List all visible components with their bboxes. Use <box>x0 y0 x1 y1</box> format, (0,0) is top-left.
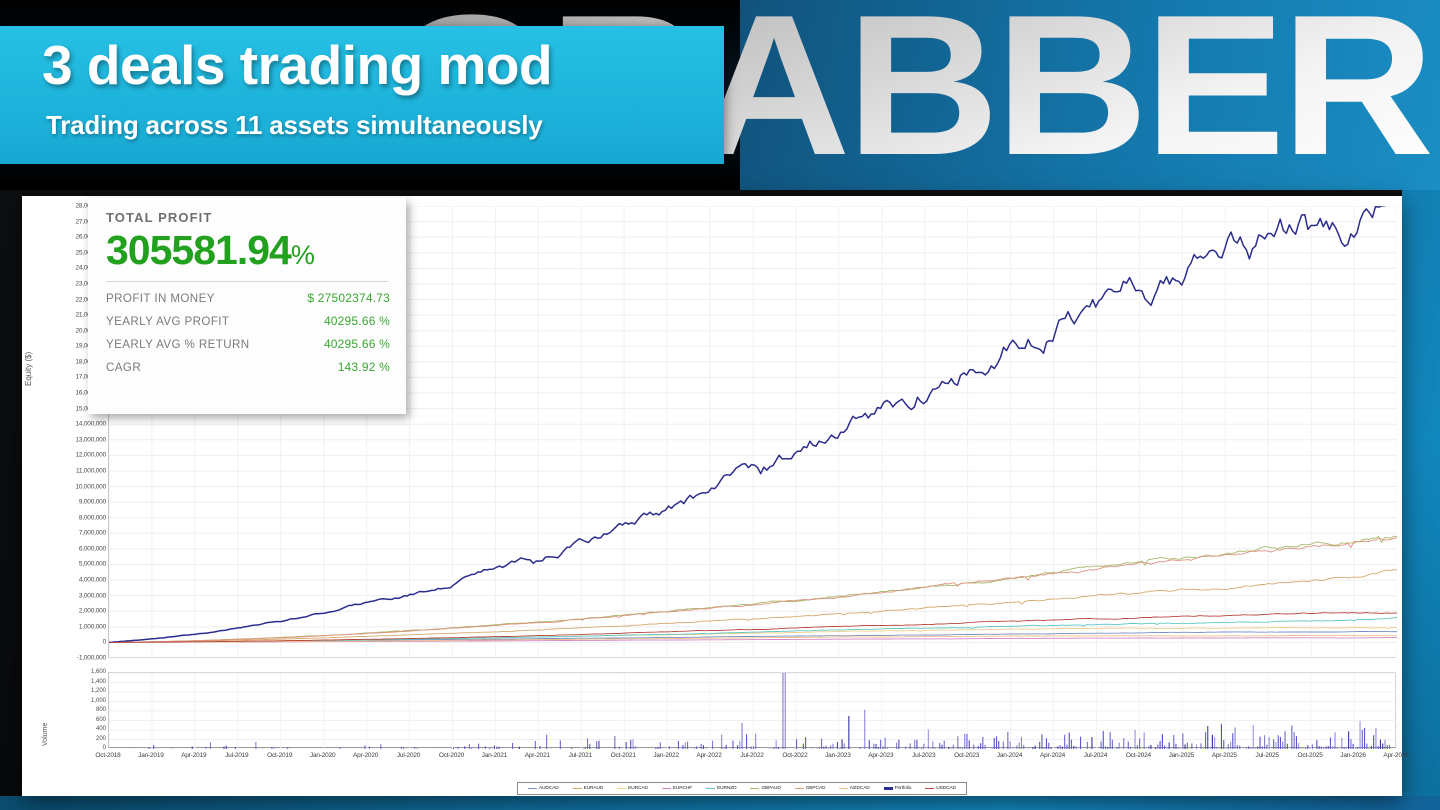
volume-bar <box>619 747 620 749</box>
volume-bar <box>1200 743 1201 749</box>
volume-bar <box>287 747 288 749</box>
volume-bar <box>1157 745 1158 750</box>
volume-bar <box>1291 726 1292 749</box>
volume-bar <box>1187 743 1188 749</box>
volume-bar <box>696 746 697 749</box>
volume-bar <box>1051 747 1052 749</box>
volume-bar <box>1003 741 1004 749</box>
volume-bar <box>1360 721 1361 749</box>
volume-bar <box>471 748 472 749</box>
page-title: 3 deals trading mod <box>42 38 702 93</box>
volume-bar <box>414 747 415 749</box>
volume-bar <box>1010 741 1011 749</box>
volume-bar <box>660 742 661 749</box>
volume-bar <box>1119 743 1120 750</box>
volume-bar <box>826 746 827 750</box>
volume-bar <box>1044 747 1045 749</box>
volume-bar <box>1066 745 1067 749</box>
volume-bar <box>1123 738 1124 749</box>
volume-bar <box>782 673 783 749</box>
volume-y-tick: 400 <box>46 726 106 732</box>
legend-item-gbpcad[interactable]: GBPCAD <box>795 786 826 791</box>
volume-bar <box>776 740 777 749</box>
volume-bar <box>966 734 967 749</box>
volume-bar <box>417 748 418 749</box>
equity-y-tick: 11,000,000 <box>34 467 106 474</box>
volume-bar <box>1257 746 1258 749</box>
volume-bar <box>1228 744 1229 749</box>
equity-y-tick: 14,000,000 <box>34 421 106 428</box>
volume-bar <box>192 746 193 749</box>
volume-bar <box>1007 732 1008 749</box>
volume-bar <box>1191 743 1192 749</box>
x-axis-ticks: Oct-2018Jan-2019Apr-2019Jul-2019Oct-2019… <box>108 752 1396 768</box>
x-axis-tick: Oct-2019 <box>267 752 292 759</box>
volume-bar <box>712 741 713 749</box>
x-axis-tick: Jan-2024 <box>997 752 1023 759</box>
volume-bar <box>1264 735 1265 749</box>
volume-bar <box>614 736 615 749</box>
x-axis-tick: Oct-2025 <box>1298 752 1323 759</box>
legend-label: GBPCAD <box>806 786 826 791</box>
legend-color-swatch <box>706 788 715 790</box>
volume-bar <box>905 747 906 750</box>
x-axis-tick: Apr-2020 <box>353 752 378 759</box>
volume-bar <box>1319 746 1320 749</box>
volume-bar <box>494 746 495 749</box>
volume-bar <box>819 748 820 749</box>
volume-bar <box>994 738 995 749</box>
volume-bar <box>1328 746 1329 749</box>
volume-bar <box>980 743 981 749</box>
chart-legend[interactable]: AUDCADEURAUDEURCADEURCHFEURNZDGBPAUDGBPC… <box>517 782 967 795</box>
stats-rows: PROFIT IN MONEY$ 27502374.73YEARLY AVG P… <box>106 291 390 374</box>
volume-bar <box>1135 730 1136 749</box>
volume-bar <box>498 747 499 749</box>
total-profit-value: 305581.94% <box>106 229 390 272</box>
volume-bar <box>339 748 340 749</box>
equity-y-tick: 0 <box>34 639 106 646</box>
volume-y-tick: 0 <box>46 745 106 751</box>
volume-bar <box>732 741 733 750</box>
volume-bar <box>1144 733 1145 750</box>
volume-bar <box>635 746 636 749</box>
stat-label: CAGR <box>106 361 141 374</box>
legend-color-swatch <box>884 787 893 789</box>
volume-bar <box>1214 737 1215 749</box>
volume-bar <box>1298 743 1299 749</box>
volume-bar <box>519 747 520 749</box>
volume-bar <box>1162 734 1163 749</box>
volume-bar <box>1169 742 1170 749</box>
x-axis-tick: Jan-2020 <box>310 752 336 759</box>
volume-bar <box>1378 746 1379 749</box>
volume-y-tick: 1,600 <box>46 669 106 675</box>
legend-item-eurchf[interactable]: EURCHF <box>662 786 692 791</box>
volume-bar <box>1175 744 1176 749</box>
volume-bar <box>864 710 865 749</box>
volume-bar <box>1335 732 1336 749</box>
volume-chart-panel: Volume 1,6001,4001,2001,0008006004002000 <box>22 668 1402 760</box>
volume-y-tick: 200 <box>46 736 106 742</box>
volume-bar <box>1312 744 1313 749</box>
volume-bar <box>921 748 922 749</box>
volume-bar <box>948 747 949 749</box>
stat-value: 143.92 % <box>338 360 390 374</box>
stat-value: 40295.66 % <box>324 337 390 351</box>
volume-bar <box>678 741 679 749</box>
volume-bar <box>742 723 743 749</box>
x-axis-tick: Oct-2022 <box>782 752 807 759</box>
volume-bar <box>512 743 513 749</box>
volume-bar <box>687 742 688 749</box>
volume-bar <box>1032 747 1033 749</box>
x-axis-tick: Jul-2021 <box>569 752 592 759</box>
volume-bar <box>496 746 497 749</box>
volume-plot-area <box>108 672 1396 748</box>
volume-bar <box>753 746 754 749</box>
legend-item-portfolio[interactable]: Portfolio <box>884 786 912 791</box>
volume-bar <box>205 747 206 749</box>
volume-bar <box>458 747 459 749</box>
stats-card-title: TOTAL PROFIT <box>106 210 390 225</box>
volume-bar <box>969 740 970 749</box>
volume-bar <box>1107 747 1108 749</box>
volume-bar <box>153 745 154 749</box>
volume-bar <box>1287 744 1288 749</box>
volume-bar <box>535 741 536 749</box>
volume-bar <box>737 745 738 749</box>
x-axis-tick: Jan-2021 <box>482 752 508 759</box>
volume-bar <box>1353 744 1354 749</box>
volume-bar <box>171 749 172 750</box>
page-subtitle: Trading across 11 assets simultaneously <box>46 112 726 138</box>
volume-bar <box>489 748 490 749</box>
x-axis-tick: Jan-2022 <box>653 752 679 759</box>
volume-bar <box>271 748 272 750</box>
header-banner: GRABBER 3 deals trading mod Trading acro… <box>0 0 1440 190</box>
x-axis-tick: Apr-2021 <box>525 752 550 759</box>
x-axis-tick: Oct-2018 <box>95 752 120 759</box>
volume-bars-svg <box>109 673 1397 749</box>
volume-bar <box>1057 746 1058 749</box>
stat-row: YEARLY AVG PROFIT40295.66 % <box>106 314 390 328</box>
volume-bar <box>1019 742 1020 749</box>
legend-color-swatch <box>750 788 759 790</box>
volume-bar <box>539 746 540 749</box>
volume-bar <box>996 736 997 749</box>
volume-bar <box>957 736 958 749</box>
volume-y-tick: 800 <box>46 707 106 713</box>
x-axis-tick: Jan-2025 <box>1169 752 1195 759</box>
volume-bar <box>1087 742 1088 749</box>
legend-label: AUDCAD <box>539 786 559 791</box>
legend-item-euraud[interactable]: EURAUD <box>573 786 604 791</box>
volume-bar <box>1273 740 1274 750</box>
stat-row: YEARLY AVG % RETURN40295.66 % <box>106 337 390 351</box>
right-accent-strip <box>1402 190 1440 810</box>
volume-bar <box>626 742 627 749</box>
volume-bar <box>1101 741 1102 749</box>
volume-y-axis-ticks: 1,6001,4001,2001,0008006004002000 <box>46 668 106 748</box>
volume-bar <box>1366 744 1367 749</box>
volume-bar <box>1116 747 1117 749</box>
volume-bar <box>1196 744 1197 749</box>
volume-bar <box>828 749 829 750</box>
volume-bar <box>1278 735 1279 749</box>
volume-bar <box>1232 733 1233 749</box>
volume-bar <box>1016 745 1017 749</box>
volume-bar <box>1230 742 1231 749</box>
volume-bar <box>1160 741 1161 749</box>
volume-bar <box>1164 746 1165 750</box>
volume-bar <box>978 746 979 749</box>
volume-bar <box>1303 749 1304 750</box>
volume-bar <box>464 746 465 749</box>
volume-bar <box>773 748 774 749</box>
x-axis-tick: Apr-2025 <box>1212 752 1237 759</box>
volume-bar <box>755 734 756 749</box>
volume-bar <box>469 744 470 749</box>
equity-y-tick: 12,000,000 <box>34 452 106 459</box>
volume-bar <box>1369 748 1370 749</box>
volume-bar <box>1103 731 1104 749</box>
legend-label: NZDCAD <box>850 786 869 791</box>
volume-bar <box>655 748 656 749</box>
volume-bar <box>1073 746 1074 749</box>
volume-bar <box>380 744 381 749</box>
legend-label: GBPAUD <box>761 786 780 791</box>
volume-bar <box>224 747 225 750</box>
volume-bar <box>1389 745 1390 749</box>
volume-y-tick: 600 <box>46 717 106 723</box>
legend-label: EURCAD <box>628 786 648 791</box>
volume-bar <box>571 748 572 749</box>
volume-bar <box>1216 747 1217 749</box>
volume-bar <box>1207 726 1208 749</box>
volume-bar <box>685 742 686 749</box>
equity-y-tick: 13,000,000 <box>34 436 106 443</box>
stats-divider <box>106 281 388 282</box>
volume-bar <box>1316 740 1317 749</box>
volume-bar <box>598 741 599 749</box>
volume-bar <box>149 748 150 750</box>
volume-bar <box>821 739 822 749</box>
volume-bar <box>403 748 404 749</box>
legend-item-audcad[interactable]: AUDCAD <box>528 786 559 791</box>
volume-y-tick: 1,400 <box>46 679 106 685</box>
volume-bar <box>1185 744 1186 749</box>
equity-y-tick: 6,000,000 <box>34 545 106 552</box>
stat-value: 40295.66 % <box>324 314 390 328</box>
volume-bar <box>1280 737 1281 749</box>
volume-bar <box>1069 733 1070 749</box>
volume-bar <box>1148 746 1149 749</box>
volume-bar <box>832 744 833 749</box>
x-axis-tick: Jan-2023 <box>825 752 851 759</box>
volume-bar <box>669 746 670 749</box>
volume-bar <box>896 743 897 750</box>
x-axis-tick: Jul-2025 <box>1256 752 1279 759</box>
volume-bar <box>723 748 724 749</box>
volume-bar <box>1091 737 1092 749</box>
volume-bar <box>585 748 586 750</box>
volume-bar <box>880 740 881 749</box>
volume-bar <box>751 747 752 750</box>
volume-bar <box>885 738 886 750</box>
volume-bar <box>1373 735 1374 749</box>
legend-item-eurcad[interactable]: EURCAD <box>617 786 648 791</box>
volume-bar <box>939 743 940 749</box>
x-axis-tick: Jul-2019 <box>225 752 248 759</box>
x-axis-tick: Apr-2022 <box>696 752 721 759</box>
volume-bar <box>1071 740 1072 749</box>
legend-item-gbpaud[interactable]: GBPAUD <box>750 786 780 791</box>
volume-bar <box>1266 745 1267 749</box>
volume-bar <box>960 747 961 749</box>
legend-color-swatch <box>795 788 804 790</box>
volume-bar <box>583 749 584 750</box>
volume-bar <box>823 747 824 750</box>
equity-y-tick: 7,000,000 <box>34 530 106 537</box>
volume-bar <box>887 748 888 749</box>
volume-bar <box>805 737 806 749</box>
legend-label: EURNZD <box>717 786 736 791</box>
legend-item-usdcad[interactable]: USDCAD <box>925 786 956 791</box>
legend-color-swatch <box>573 788 582 790</box>
volume-bar <box>694 748 695 749</box>
volume-bar <box>785 673 786 749</box>
volume-bar <box>1285 731 1286 749</box>
volume-bar <box>973 745 974 750</box>
volume-bar <box>1382 744 1383 750</box>
volume-bar <box>1323 748 1324 749</box>
volume-bar <box>1021 737 1022 749</box>
volume-bar <box>255 742 256 749</box>
volume-bar <box>1387 745 1388 749</box>
stat-value: $ 27502374.73 <box>307 291 390 305</box>
x-axis-tick: Jan-2019 <box>138 752 164 759</box>
volume-bar <box>369 746 370 749</box>
volume-bar <box>364 745 365 749</box>
legend-label: USDCAD <box>936 786 956 791</box>
volume-bar <box>951 748 952 749</box>
legend-color-swatch <box>617 788 626 790</box>
volume-bar <box>1155 748 1156 750</box>
volume-bar <box>1332 746 1333 749</box>
volume-y-tick: 1,200 <box>46 688 106 694</box>
volume-bar <box>953 745 954 749</box>
volume-bar <box>1364 728 1365 749</box>
stat-row: PROFIT IN MONEY$ 27502374.73 <box>106 291 390 305</box>
volume-bar <box>721 735 722 749</box>
volume-bar <box>1341 738 1342 749</box>
volume-bar <box>1385 740 1386 749</box>
volume-bar <box>1128 742 1129 749</box>
legend-label: Portfolio <box>895 786 912 791</box>
volume-bar <box>964 734 965 749</box>
volume-bar <box>1048 743 1049 749</box>
volume-bar <box>1235 727 1236 749</box>
volume-bar <box>210 742 211 749</box>
volume-bar <box>1210 749 1211 750</box>
volume-bar <box>1237 745 1238 749</box>
volume-bar <box>235 747 236 749</box>
equity-y-tick: 8,000,000 <box>34 514 106 521</box>
stat-label: YEARLY AVG PROFIT <box>106 315 229 328</box>
volume-bar <box>941 745 942 749</box>
legend-color-swatch <box>839 788 848 790</box>
volume-bar <box>1325 746 1326 749</box>
volume-bar <box>898 740 899 749</box>
volume-bar <box>839 748 840 749</box>
volume-bar <box>878 747 879 749</box>
volume-bar <box>1112 740 1113 749</box>
volume-bar <box>657 747 658 749</box>
volume-bar <box>1296 736 1297 749</box>
total-profit-stats-card: TOTAL PROFIT 305581.94% PROFIT IN MONEY$… <box>88 198 406 414</box>
volume-bar <box>589 744 590 749</box>
volume-bar <box>1173 735 1174 749</box>
volume-bar <box>1344 748 1345 749</box>
equity-y-tick: -1,000,000 <box>34 655 106 662</box>
volume-bar <box>1355 748 1356 749</box>
volume-bar <box>923 744 924 749</box>
volume-bar <box>928 730 929 750</box>
volume-bar <box>985 745 986 749</box>
volume-bar <box>1362 730 1363 749</box>
volume-bar <box>1221 724 1222 749</box>
volume-bar <box>478 744 479 749</box>
total-profit-number: 305581.94 <box>106 227 291 273</box>
volume-bar <box>1060 745 1061 749</box>
volume-bar <box>546 735 547 749</box>
x-axis-tick: Apr-2026 <box>1383 752 1408 759</box>
volume-bar <box>1346 748 1347 749</box>
volume-bar <box>910 743 911 749</box>
volume-bar <box>830 745 831 749</box>
volume-bar <box>1182 733 1183 749</box>
volume-bar <box>1039 742 1040 749</box>
volume-bar <box>914 740 915 749</box>
volume-bar <box>1246 748 1247 749</box>
x-axis-tick: Jul-2023 <box>912 752 935 759</box>
legend-color-swatch <box>662 788 671 790</box>
volume-bar <box>1110 732 1111 749</box>
volume-bar <box>1203 748 1204 749</box>
volume-bar <box>682 745 683 749</box>
volume-bar <box>860 748 861 749</box>
volume-bar <box>1023 745 1024 749</box>
legend-item-nzdcad[interactable]: NZDCAD <box>839 786 869 791</box>
legend-item-eurnzd[interactable]: EURNZD <box>706 786 736 791</box>
x-axis-tick: Oct-2023 <box>954 752 979 759</box>
volume-bar <box>1300 749 1301 750</box>
legend-color-swatch <box>925 788 934 790</box>
volume-bar <box>1255 749 1256 750</box>
x-axis-tick: Apr-2019 <box>181 752 206 759</box>
x-axis-tick: Oct-2020 <box>439 752 464 759</box>
volume-bar <box>848 716 849 749</box>
volume-bar <box>1337 748 1338 749</box>
x-axis-tick: Jul-2020 <box>397 752 420 759</box>
volume-bar <box>226 746 227 750</box>
volume-bar <box>1035 746 1036 749</box>
volume-bar <box>633 739 634 749</box>
stat-label: YEARLY AVG % RETURN <box>106 338 250 351</box>
equity-y-tick: 3,000,000 <box>34 592 106 599</box>
equity-y-tick: 2,000,000 <box>34 608 106 615</box>
